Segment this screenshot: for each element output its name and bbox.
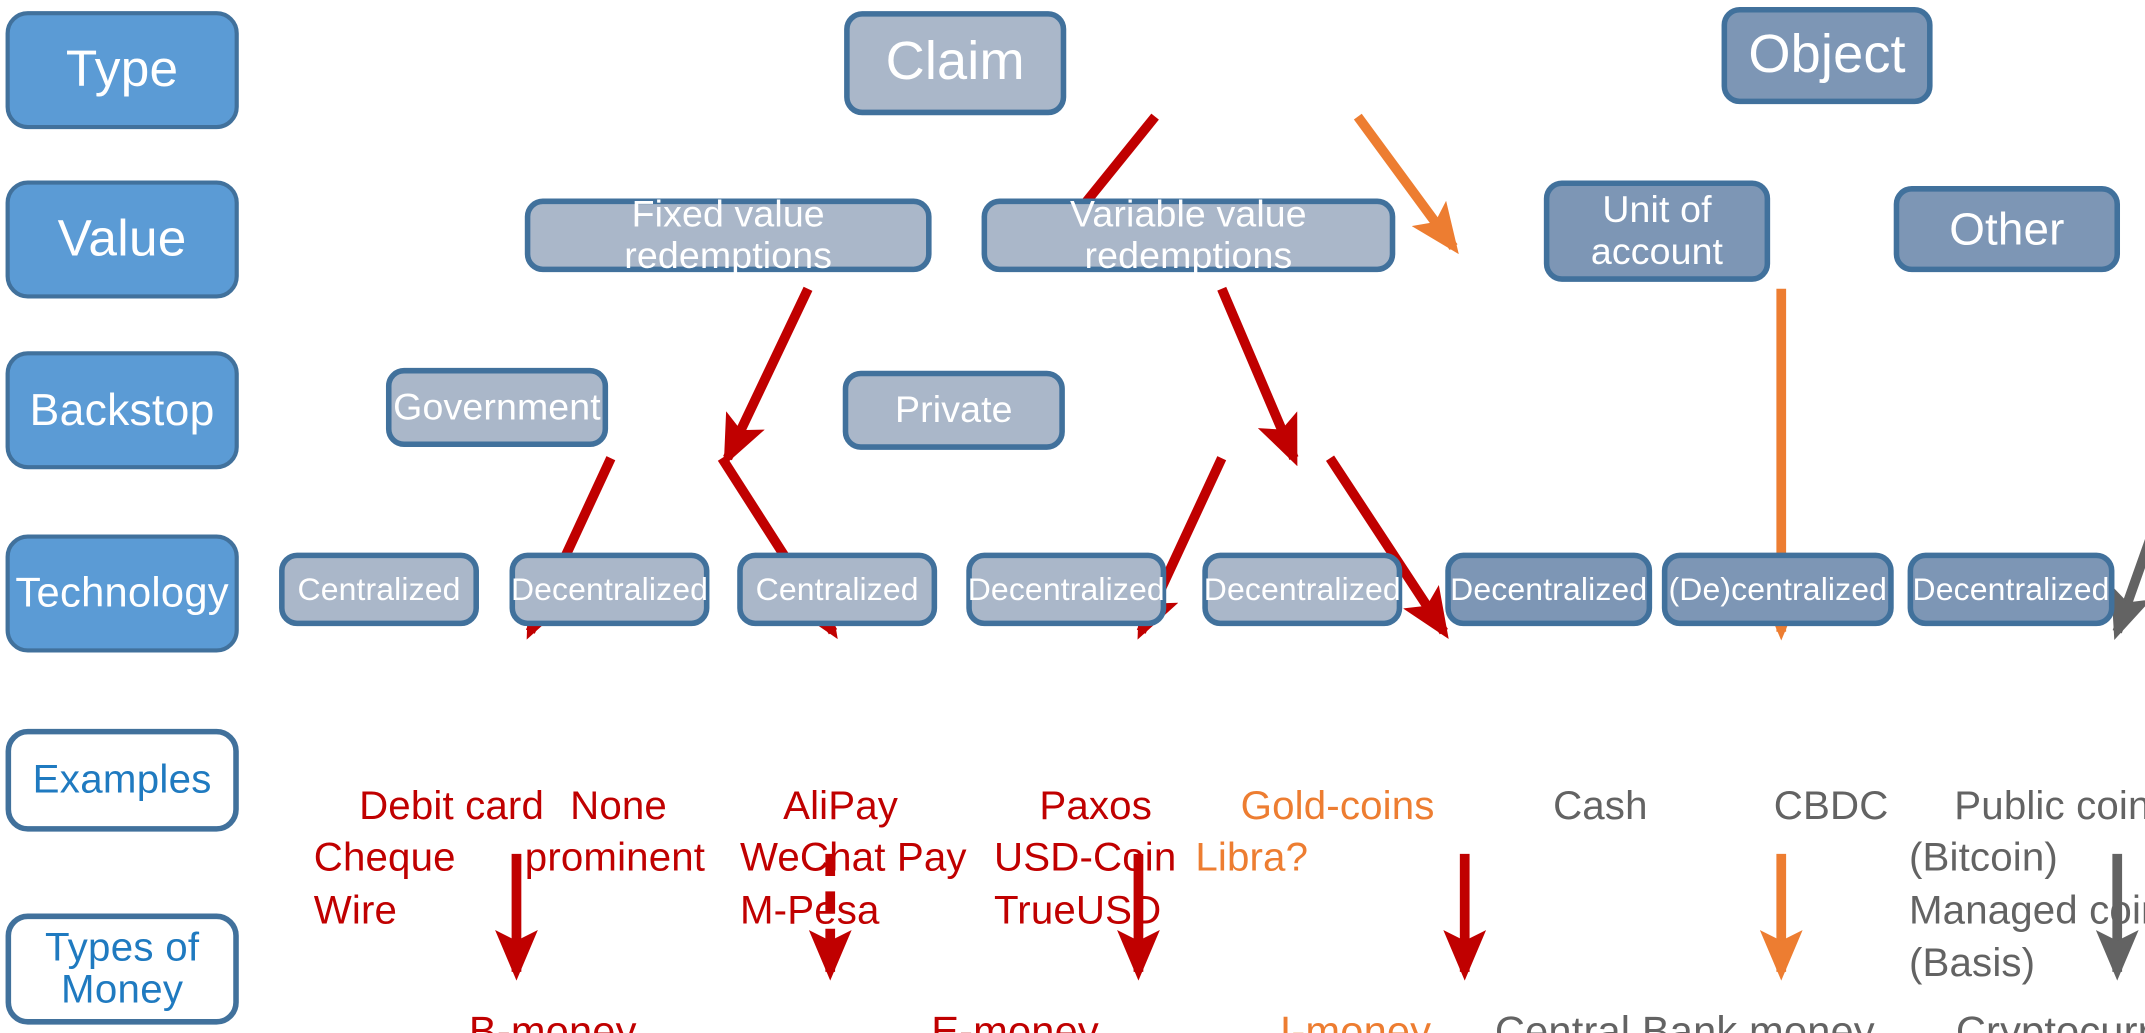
arrow-fixed-to-government	[727, 289, 808, 458]
example-cash: Cash	[1508, 729, 1648, 886]
node-tech-government-centralized[interactable]: Centralized	[279, 553, 479, 627]
node-label: Decentralized	[1912, 572, 2109, 606]
row-label-text: Backstop	[30, 387, 215, 434]
example-text: AliPay WeChat Pay M-Pesa	[740, 784, 967, 933]
node-label: Centralized	[297, 572, 460, 606]
node-tech-variable-decentralized[interactable]: Decentralized	[1202, 553, 1402, 627]
money-type-text: I-money	[1280, 1009, 1431, 1033]
node-label: Decentralized	[511, 572, 708, 606]
money-type-i-money: I-money	[1233, 951, 1431, 1033]
row-label-backstop: Backstop	[6, 351, 239, 469]
row-label-types-of-money: Types of Money	[6, 914, 239, 1025]
node-tech-private-centralized[interactable]: Centralized	[737, 553, 937, 627]
node-tech-private-decentralized[interactable]: Decentralized	[966, 553, 1166, 627]
money-type-b-money: B-money	[422, 951, 637, 1033]
node-tech-other-decentralized[interactable]: Decentralized	[1908, 553, 2115, 627]
node-private[interactable]: Private	[843, 371, 1065, 450]
row-label-type: Type	[6, 11, 239, 129]
node-unit-of-account[interactable]: Unit of account	[1544, 180, 1770, 281]
row-label-examples: Examples	[6, 729, 239, 832]
row-label-text: Technology	[15, 572, 229, 616]
row-label-value: Value	[6, 180, 239, 298]
node-label: Decentralized	[968, 572, 1165, 606]
row-label-text: Value	[58, 213, 187, 267]
example-text: CBDC	[1774, 784, 1889, 828]
money-taxonomy-diagram: Type Value Backstop Technology Examples …	[0, 0, 2145, 1033]
node-tech-uoa-decentralized[interactable]: Decentralized	[1445, 553, 1652, 627]
node-label: Government	[393, 387, 601, 427]
row-label-text: Examples	[33, 759, 212, 801]
money-type-text: Central Bank money	[1495, 1009, 1875, 1033]
money-type-central-bank-money: Central Bank money	[1448, 951, 1875, 1033]
example-text: Cash	[1553, 784, 1648, 828]
example-b-money-decentralized: None prominent	[525, 729, 705, 938]
node-label: Fixed value redemptions	[530, 195, 926, 276]
arrow-uoa-to-decentralized	[2117, 378, 2145, 632]
node-label: Unit of account	[1591, 191, 1723, 272]
node-label: Private	[895, 390, 1013, 430]
node-other[interactable]: Other	[1894, 186, 2120, 272]
node-label: Claim	[886, 34, 1025, 92]
node-claim[interactable]: Claim	[844, 11, 1066, 115]
example-text: Debit card Cheque Wire	[314, 784, 544, 933]
example-i-money: Gold-coins Libra?	[1195, 729, 1434, 938]
money-type-cryptocurrency: Cryptocurrency	[1909, 951, 2145, 1033]
node-label: Variable value redemptions	[987, 195, 1390, 276]
row-label-text: Types of Money	[45, 927, 199, 1012]
money-type-text: E-money	[931, 1009, 1099, 1033]
example-text: Paxos USD-Coin TrueUSD	[994, 784, 1176, 933]
node-label: Decentralized	[1204, 572, 1401, 606]
row-label-technology: Technology	[6, 535, 239, 653]
row-label-text: Type	[66, 43, 178, 97]
node-label: Other	[1949, 204, 2064, 253]
money-type-text: B-money	[469, 1009, 637, 1033]
node-label: (De)centralized	[1668, 572, 1887, 606]
node-fixed-value-redemptions[interactable]: Fixed value redemptions	[525, 199, 932, 273]
diagram-scale-wrapper: Type Value Backstop Technology Examples …	[0, 0, 2145, 1033]
node-variable-value-redemptions[interactable]: Variable value redemptions	[982, 199, 1396, 273]
money-type-e-money: E-money	[884, 951, 1099, 1033]
example-cbdc: CBDC	[1728, 729, 1888, 886]
node-tech-government-decentralized[interactable]: Decentralized	[510, 553, 710, 627]
node-label: Decentralized	[1450, 572, 1647, 606]
example-text: Gold-coins Libra?	[1195, 784, 1434, 881]
node-object[interactable]: Object	[1722, 7, 1933, 104]
node-government[interactable]: Government	[386, 368, 608, 447]
example-text: None prominent	[525, 784, 705, 881]
node-tech-uoa-decentralized-2[interactable]: (De)centralized	[1662, 553, 1894, 627]
arrow-fixed-to-private	[1222, 289, 1294, 458]
node-label: Object	[1748, 26, 1905, 84]
node-label: Centralized	[756, 572, 919, 606]
money-type-text: Cryptocurrency	[1956, 1009, 2145, 1033]
